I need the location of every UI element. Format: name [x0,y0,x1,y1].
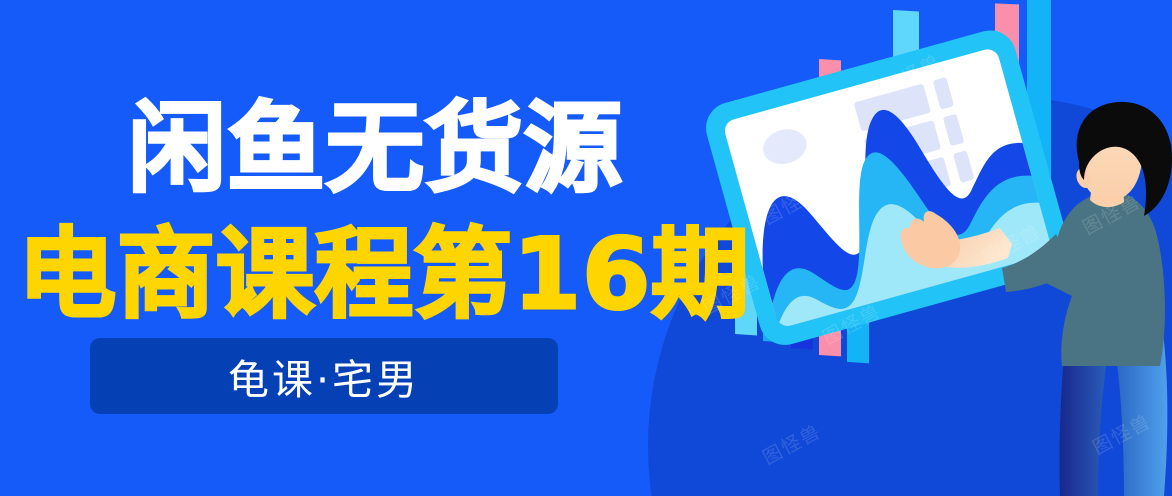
headline-block: 闲鱼无货源 电商课程第16期 龟课·宅男 [0,0,740,496]
course-promo-banner: 闲鱼无货源 电商课程第16期 龟课·宅男 图怪兽 图怪兽 图怪兽 图怪兽 图怪兽… [0,0,1172,496]
headline-line-1: 闲鱼无货源 [128,100,623,198]
headline-line-2: 电商课程第16期 [18,226,750,324]
subtitle-button[interactable]: 龟课·宅男 [90,338,558,414]
subtitle-button-label: 龟课·宅男 [228,346,420,406]
watermark: 图怪兽 [877,47,945,100]
